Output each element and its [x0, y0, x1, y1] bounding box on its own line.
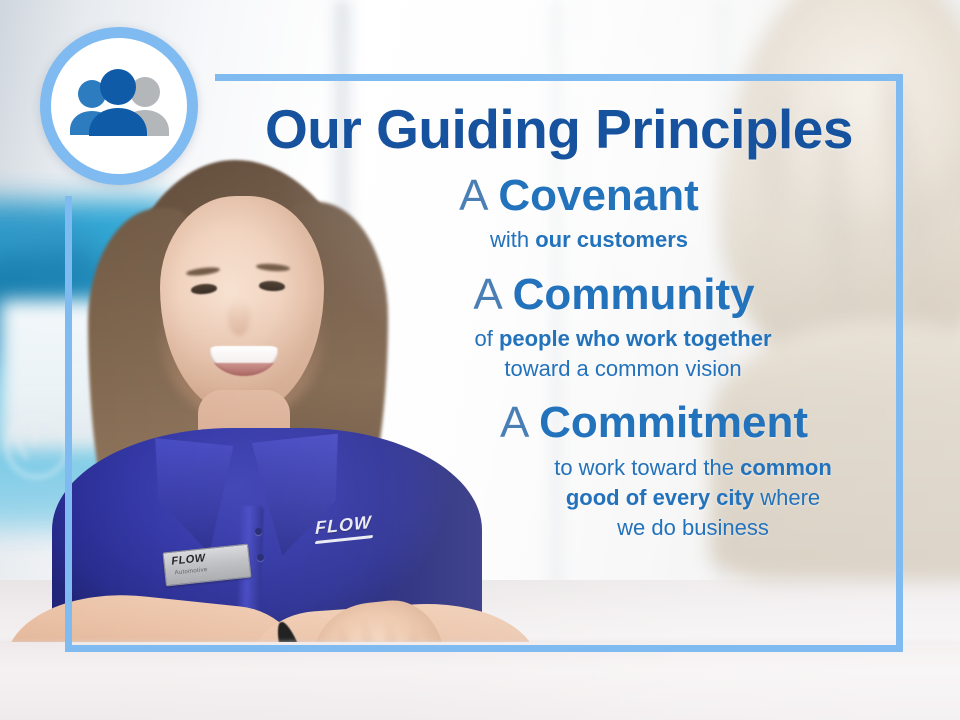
principle-commitment: A Commitment to work toward the common g… — [215, 400, 903, 543]
subtext-bold: common — [740, 455, 832, 480]
principles-text-block: Our Guiding Principles A Covenant with o… — [215, 74, 903, 544]
desk-top — [0, 642, 960, 720]
principle-heading: A Covenant — [255, 173, 903, 219]
principle-covenant: A Covenant with our customers — [215, 173, 903, 256]
polo-button — [257, 554, 264, 561]
principle-keyword: Commitment — [539, 398, 808, 447]
subtext-regular: of — [474, 326, 498, 351]
principle-keyword: Community — [513, 270, 755, 319]
guiding-principles-graphic: FLOW FLOW Automotive — [0, 0, 960, 720]
principle-subtext: of people who work together toward a com… — [325, 324, 903, 385]
principle-article: A — [500, 398, 527, 447]
principle-community: A Community of people who work together … — [215, 272, 903, 385]
group-of-people-icon — [65, 68, 173, 144]
subtext-regular: to work toward the — [554, 455, 740, 480]
subtext-bold-line2: good of every city — [566, 485, 754, 510]
page-title: Our Guiding Principles — [215, 74, 903, 157]
principle-keyword: Covenant — [498, 171, 698, 220]
principle-heading: A Commitment — [405, 400, 903, 446]
subtext-bold: people who work together — [499, 326, 772, 351]
name-badge-brand: FLOW — [171, 552, 206, 568]
people-badge-circle — [40, 27, 198, 185]
principle-subtext: with our customers — [255, 225, 903, 255]
principle-article: A — [459, 171, 486, 220]
subtext-regular-line3: we do business — [617, 515, 769, 540]
subtext-regular-line2: where — [754, 485, 820, 510]
subtext-regular: with — [490, 227, 535, 252]
principle-subtext: to work toward the common good of every … — [475, 453, 903, 544]
name-badge-subtext: Automotive — [174, 567, 207, 576]
subtext-bold: our customers — [535, 227, 688, 252]
principle-heading: A Community — [325, 272, 903, 318]
subtext-regular-line2: toward a common vision — [504, 356, 741, 381]
principle-article: A — [473, 270, 500, 319]
